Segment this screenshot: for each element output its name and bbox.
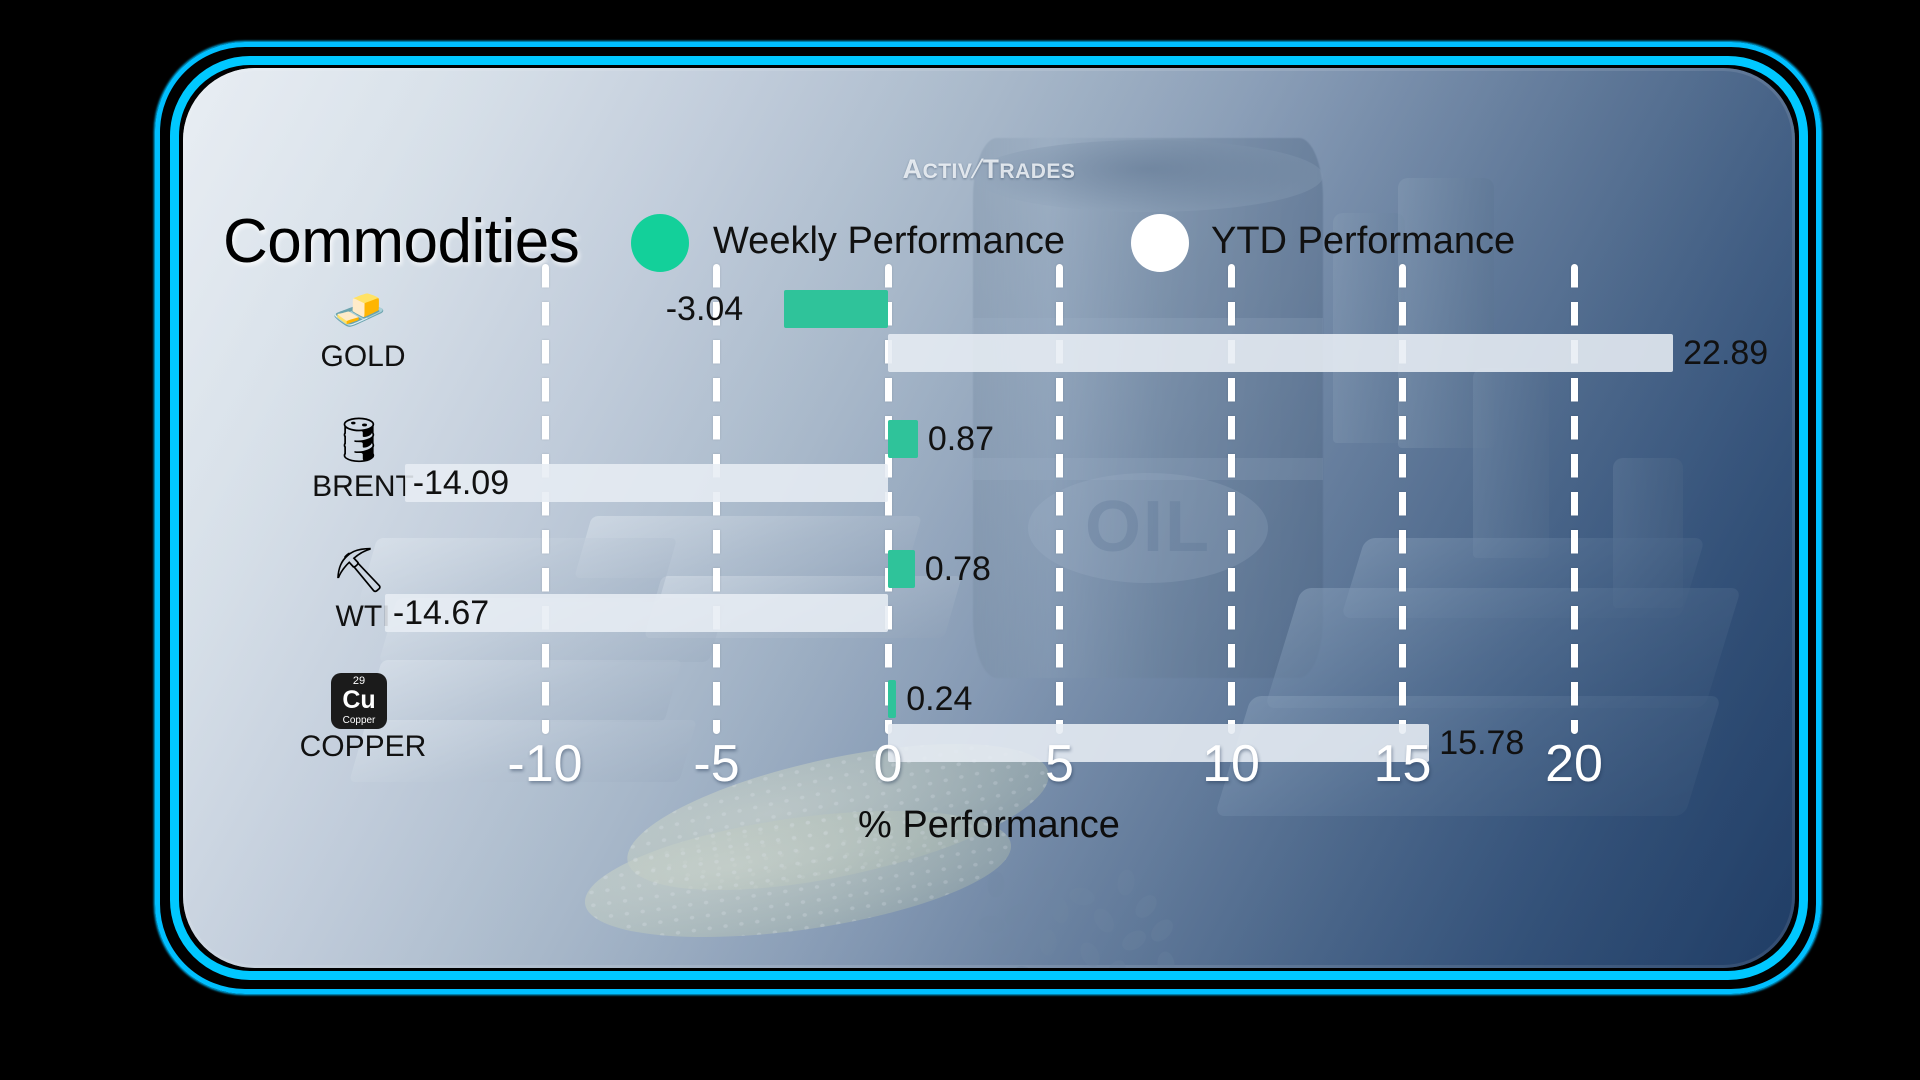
oil-pump-icon: ⛏ <box>323 542 395 600</box>
x-axis-tick-label: 0 <box>874 734 903 794</box>
bar-value-ytd-gold: 22.89 <box>1683 334 1768 372</box>
legend-label-ytd: YTD Performance <box>1211 220 1515 263</box>
x-axis-tick-label: 5 <box>1045 734 1074 794</box>
chart-row: 🧈GOLD-3.0422.89 <box>183 282 1795 400</box>
x-axis-tick-label: -10 <box>507 734 582 794</box>
bar-weekly-brent <box>888 420 918 458</box>
legend-label-weekly: Weekly Performance <box>713 220 1065 263</box>
x-axis-title: % Performance <box>183 804 1795 847</box>
bar-weekly-gold <box>784 290 888 328</box>
chart-row: ⛏WTI0.78-14.67 <box>183 542 1795 660</box>
x-axis-tick-label: 15 <box>1374 734 1432 794</box>
x-axis-tick-label: 20 <box>1545 734 1603 794</box>
screenshot-root: OIL ACTIV/TRADES Commodities Weekly Perf… <box>0 0 1920 1080</box>
bar-value-weekly-wti: 0.78 <box>925 550 991 588</box>
chart-card: OIL ACTIV/TRADES Commodities Weekly Perf… <box>183 68 1795 968</box>
bar-weekly-copper <box>888 680 896 718</box>
copper-element-icon: 29CuCopper <box>323 672 395 730</box>
plot-area: 🧈GOLD-3.0422.89🛢BRENT0.87-14.09⛏WTI0.78-… <box>183 264 1795 784</box>
bar-value-ytd-brent: -14.09 <box>413 464 509 502</box>
oil-barrels-icon: 🛢 <box>323 412 395 470</box>
activtrades-logo: ACTIV/TRADES <box>183 154 1795 185</box>
x-axis: -10-505101520 <box>183 734 1795 804</box>
logo-text-trades: TRADES <box>982 154 1075 184</box>
bar-value-ytd-wti: -14.67 <box>393 594 489 632</box>
bar-value-weekly-gold: -3.04 <box>666 290 744 328</box>
x-axis-tick-label: -5 <box>693 734 739 794</box>
x-axis-tick-label: 10 <box>1202 734 1260 794</box>
bar-weekly-wti <box>888 550 915 588</box>
category-label-gold: GOLD <box>243 340 483 374</box>
bar-value-weekly-copper: 0.24 <box>906 680 972 718</box>
logo-text-activ: ACTIV <box>903 154 973 184</box>
gold-bars-icon: 🧈 <box>323 282 395 340</box>
chart-row: 🛢BRENT0.87-14.09 <box>183 412 1795 530</box>
bar-value-weekly-brent: 0.87 <box>928 420 994 458</box>
bar-ytd-gold <box>888 334 1673 372</box>
